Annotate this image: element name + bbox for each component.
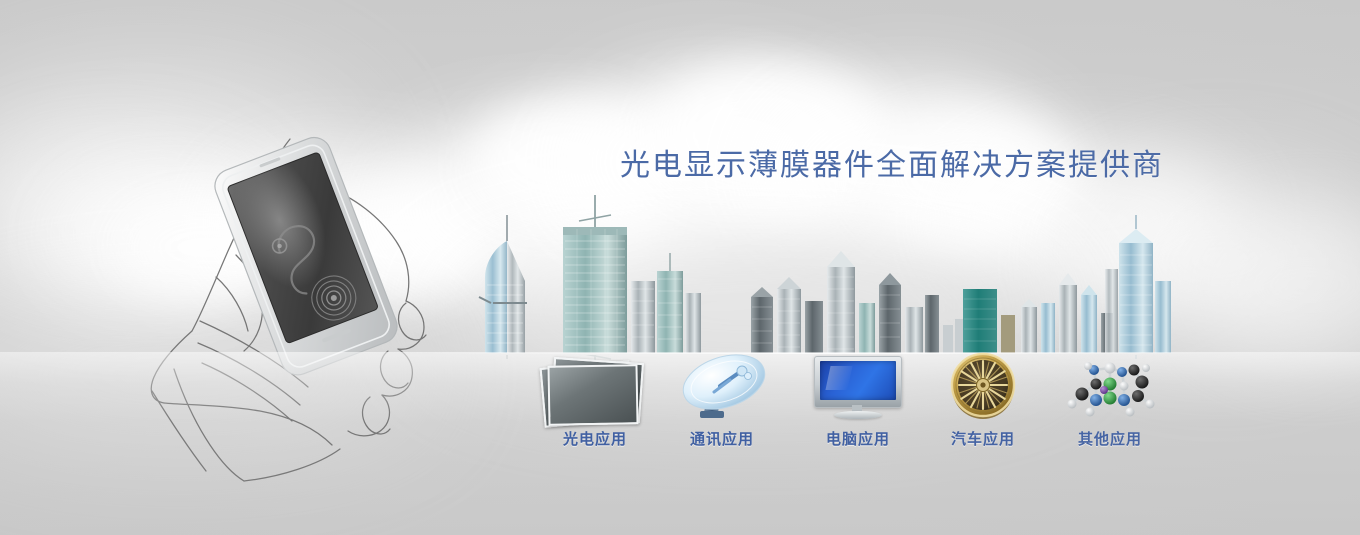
application-item-automotive[interactable]: 汽车应用 xyxy=(918,352,1048,449)
glass-film-panels-icon xyxy=(530,352,660,422)
city-skyline xyxy=(455,185,1175,360)
page-title: 光电显示薄膜器件全面解决方案提供商 xyxy=(620,140,1164,184)
application-label: 其他应用 xyxy=(1045,428,1175,449)
application-item-communication[interactable]: 通讯应用 xyxy=(657,352,787,449)
application-item-other[interactable]: 其他应用 xyxy=(1045,352,1175,449)
molecule-model-icon xyxy=(1045,352,1175,422)
computer-monitor-icon xyxy=(793,352,923,422)
application-item-optoelectronic[interactable]: 光电应用 xyxy=(530,352,660,449)
application-label: 电脑应用 xyxy=(793,428,923,449)
satellite-dish-icon xyxy=(657,352,787,422)
car-wheel-rim-icon xyxy=(918,352,1048,422)
application-label: 汽车应用 xyxy=(918,428,1048,449)
hero-banner: 光电显示薄膜器件全面解决方案提供商 xyxy=(0,0,1360,535)
application-item-computer[interactable]: 电脑应用 xyxy=(793,352,923,449)
application-label: 通讯应用 xyxy=(657,428,787,449)
application-label: 光电应用 xyxy=(530,428,660,449)
application-icons: 光电应用 xyxy=(0,352,1360,472)
